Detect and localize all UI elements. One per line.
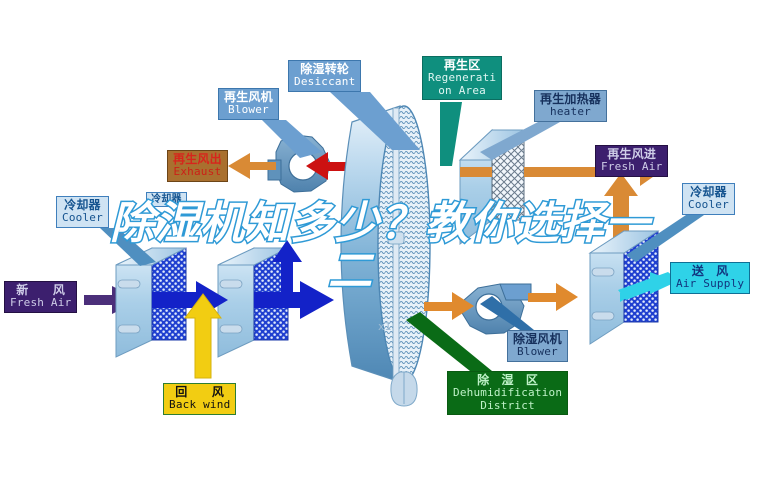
svg-text:x1: x1 — [378, 320, 392, 333]
label-desiccant-wheel[interactable]: 除湿转轮 Desiccant — [288, 60, 361, 92]
label-fresh-air-in-en: Fresh Air — [10, 297, 71, 309]
label-exhaust-cn: 再生风出 — [173, 153, 222, 166]
label-dehumidification-district-en-line1: Dehumidification — [453, 387, 562, 399]
label-fresh-air-in-cn: 新 风 — [10, 284, 71, 297]
label-regeneration-area[interactable]: 再生区 Regenerati on Area — [422, 56, 502, 100]
label-regeneration-blower-en: Blower — [224, 104, 273, 116]
label-cooler-left-2-cn: 冷却器 — [151, 194, 182, 205]
label-dehumidification-district-cn: 除 湿 区 — [453, 374, 562, 387]
label-regeneration-area-en-line2: on Area — [428, 85, 496, 97]
label-exhaust[interactable]: 再生风出 Exhaust — [167, 150, 228, 182]
label-dehumidification-blower-cn: 除湿风机 — [513, 333, 562, 346]
label-fresh-air-in[interactable]: 新 风 Fresh Air — [4, 281, 77, 313]
label-dehumidification-blower-en: Blower — [513, 346, 562, 358]
label-cooler-right-cn: 冷却器 — [688, 186, 729, 199]
label-cooler-right[interactable]: 冷却器 Cooler — [682, 183, 735, 215]
label-cooler-left-2[interactable]: 冷却器 — [146, 192, 187, 207]
label-dehumidification-district[interactable]: 除 湿 区 Dehumidification District — [447, 371, 568, 415]
label-air-supply[interactable]: 送 风 Air Supply — [670, 262, 750, 294]
label-desiccant-wheel-en: Desiccant — [294, 76, 355, 88]
label-cooler-left-1[interactable]: 冷却器 Cooler — [56, 196, 109, 228]
label-regeneration-area-en-line1: Regenerati — [428, 72, 496, 84]
label-regeneration-heater-en: heater — [540, 106, 601, 118]
label-regeneration-heater-cn: 再生加热器 — [540, 93, 601, 106]
label-back-wind-cn: 回 风 — [169, 386, 230, 399]
label-regeneration-blower[interactable]: 再生风机 Blower — [218, 88, 279, 120]
label-back-wind[interactable]: 回 风 Back wind — [163, 383, 236, 415]
label-regeneration-fresh-air[interactable]: 再生风进 Fresh Air — [595, 145, 668, 177]
drain-scoop — [391, 372, 417, 406]
label-regeneration-area-cn: 再生区 — [428, 59, 496, 72]
label-dehumidification-blower[interactable]: 除湿风机 Blower — [507, 330, 568, 362]
label-desiccant-wheel-cn: 除湿转轮 — [294, 63, 355, 76]
label-regeneration-heater[interactable]: 再生加热器 heater — [534, 90, 607, 122]
label-air-supply-en: Air Supply — [676, 278, 744, 290]
label-back-wind-en: Back wind — [169, 399, 230, 411]
label-dehumidification-district-en-line2: District — [453, 400, 562, 412]
label-cooler-left-1-cn: 冷却器 — [62, 199, 103, 212]
label-regeneration-blower-cn: 再生风机 — [224, 91, 273, 104]
schematic-artwork: x1 — [0, 0, 757, 488]
label-regeneration-fresh-air-en: Fresh Air — [601, 161, 662, 173]
label-exhaust-en: Exhaust — [173, 166, 222, 178]
arrow-blower-out — [528, 283, 578, 311]
label-cooler-left-1-en: Cooler — [62, 212, 103, 224]
label-cooler-right-en: Cooler — [688, 199, 729, 211]
label-regeneration-fresh-air-cn: 再生风进 — [601, 148, 662, 161]
label-air-supply-cn: 送 风 — [676, 265, 744, 278]
diagram-canvas: x1 — [0, 0, 757, 488]
